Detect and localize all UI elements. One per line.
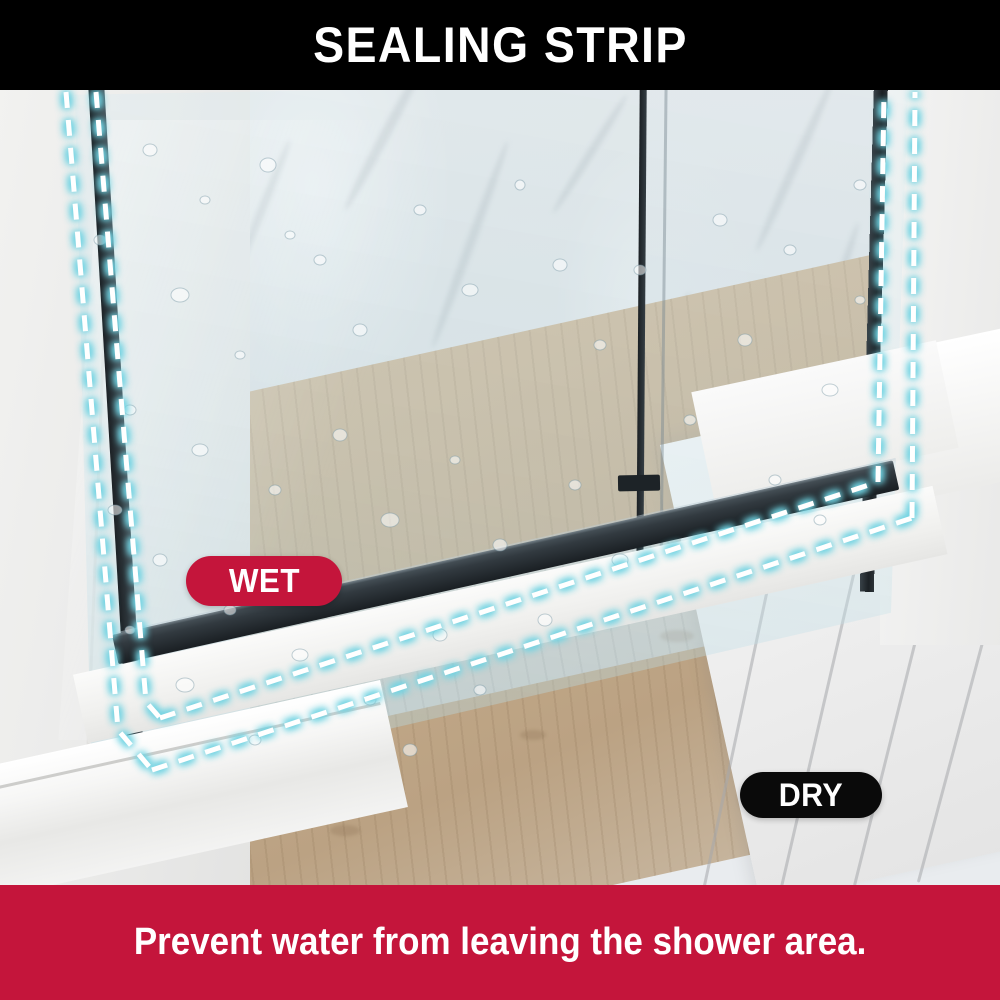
badge-dry-label: DRY (779, 777, 843, 814)
floor-knot (330, 825, 360, 836)
badge-wet: WET (186, 556, 342, 606)
shower-photo: WET DRY (0, 90, 1000, 885)
tagline: Prevent water from leaving the shower ar… (134, 921, 866, 964)
badge-dry: DRY (740, 772, 882, 818)
badge-wet-label: WET (228, 562, 299, 600)
page-title: SEALING STRIP (313, 16, 688, 74)
product-poster: SEALING STRIP (0, 0, 1000, 1000)
floor-knot (520, 730, 546, 740)
bottom-banner: Prevent water from leaving the shower ar… (0, 885, 1000, 1000)
door-stile-foot (618, 475, 660, 492)
top-banner: SEALING STRIP (0, 0, 1000, 90)
